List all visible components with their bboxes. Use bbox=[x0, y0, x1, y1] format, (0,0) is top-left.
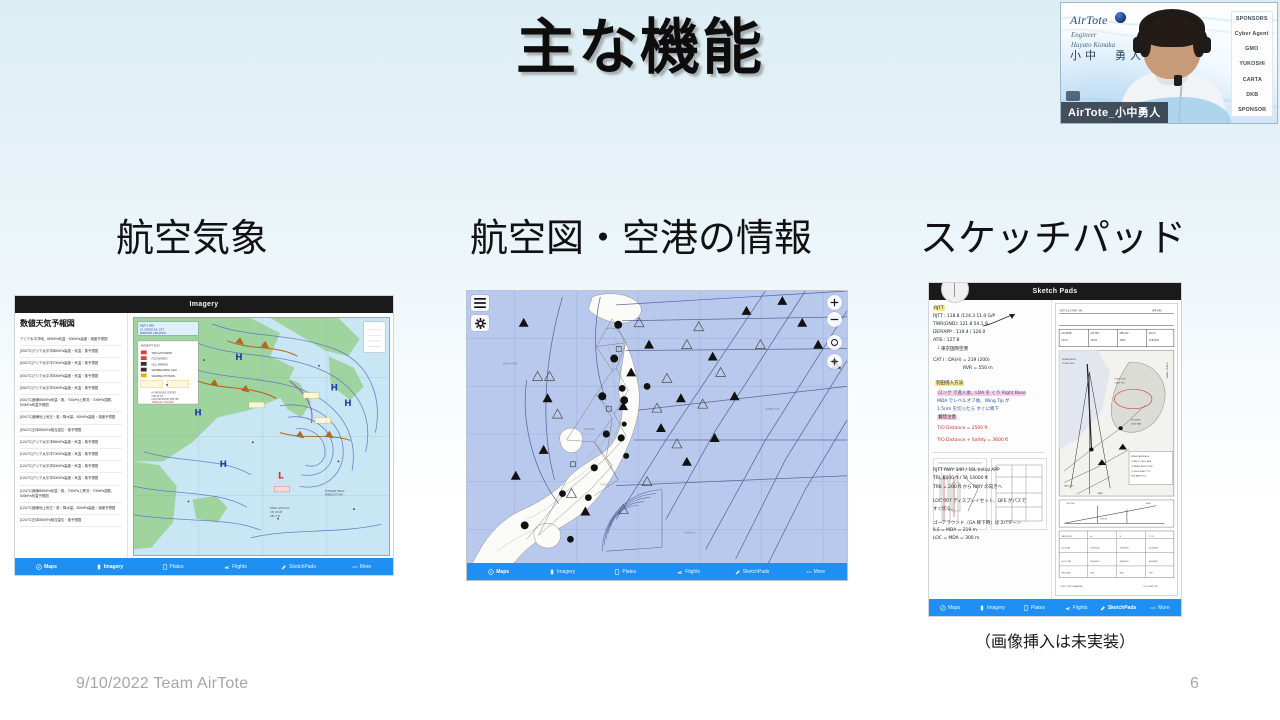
list-item[interactable]: [12UTC]日本850hPa相当温位・風予想図 bbox=[20, 515, 122, 527]
tab-sketchpads[interactable]: SketchPads bbox=[720, 569, 783, 575]
tab-label: Plates bbox=[170, 564, 184, 570]
imagery-icon bbox=[96, 564, 102, 570]
list-item[interactable]: [12UTC]極東850hPa気温・風、700hPa上昇流・700hPa湿数、5… bbox=[20, 486, 122, 503]
imagery-icon bbox=[549, 569, 555, 575]
svg-text:CLIMB 2000: CLIMB 2000 bbox=[1062, 363, 1075, 365]
svg-text:TROPICAL CYCLONE: TROPICAL CYCLONE bbox=[152, 401, 175, 404]
svg-text:2000: 2000 bbox=[1120, 339, 1126, 342]
sketch-icon bbox=[1100, 605, 1106, 611]
flight-icon bbox=[677, 569, 683, 575]
svg-text:29.92: 29.92 bbox=[1090, 339, 1097, 342]
compass-icon[interactable] bbox=[827, 335, 842, 350]
svg-text:FAF 2000: FAF 2000 bbox=[1064, 484, 1074, 487]
weather-app-body: 数値天気予報図 アジア太平洋域、850hPa気温・500hPa高度・渦度予想図 … bbox=[15, 313, 393, 558]
note-line: └ 東京国際空港 bbox=[937, 346, 968, 352]
note-line: T/O Distance = 2500 ft bbox=[937, 426, 988, 431]
note-line: ATIS : 127.8 bbox=[933, 338, 959, 343]
svg-text:TOKYO: TOKYO bbox=[600, 483, 609, 487]
tab-sketchpads[interactable]: SketchPads bbox=[267, 564, 330, 570]
svg-text:TOKYO VOR: TOKYO VOR bbox=[1114, 379, 1126, 381]
svg-text:FORECAST 24H: FORECAST 24H bbox=[325, 494, 343, 497]
tab-maps[interactable]: Maps bbox=[15, 564, 78, 570]
tab-label: SketchPads bbox=[743, 569, 770, 575]
gear-icon[interactable] bbox=[471, 315, 489, 331]
weather-app-tabbar[interactable]: Maps Imagery Plates Flights SketchPads bbox=[15, 558, 393, 575]
svg-text:ILS Z RWY 34L: ILS Z RWY 34L bbox=[1144, 586, 1159, 588]
sketch-icon bbox=[735, 569, 741, 575]
flight-icon bbox=[1065, 605, 1071, 611]
svg-text:UPPER ATS: UPPER ATS bbox=[765, 407, 779, 411]
tab-label: Plates bbox=[1031, 605, 1045, 611]
svg-text:CIRCLING: CIRCLING bbox=[1061, 573, 1071, 575]
weather-legend-box: FBJP 1 JMA 21 2000Z JUL 22T SURFACE ANAL… bbox=[138, 322, 198, 404]
list-item[interactable]: [00UTC]極東850hPa気温・風、700hPa上昇流・700hPa湿数、5… bbox=[20, 395, 122, 412]
tab-maps[interactable]: Maps bbox=[929, 605, 971, 611]
note-line: 羽田侵入方法 bbox=[935, 380, 964, 386]
tab-imagery[interactable]: Imagery bbox=[971, 605, 1013, 611]
note-line: LOC 007 ディスプレイセット、QFE がパスで bbox=[933, 498, 1026, 504]
sketchpad-note-page[interactable]: RJTT RJTT : 118.8 /124.3 11.0 G/P TWR(GN… bbox=[929, 300, 1052, 599]
svg-text:WARNING/NEAR GALE: WARNING/NEAR GALE bbox=[152, 369, 178, 372]
tab-label: Flights bbox=[1073, 605, 1088, 611]
tab-label: Flights bbox=[232, 564, 247, 570]
note-line: T/O Distance + Safety = 3600 ft bbox=[937, 438, 1008, 443]
list-item[interactable]: アジア太平洋域、850hPa気温・500hPa高度・渦度予想図 bbox=[20, 334, 122, 346]
list-item[interactable]: [12UTC]アジア太平洋850hPa高度・気温・風予想図 bbox=[20, 437, 122, 449]
svg-text:MISSED APCH: MISSED APCH bbox=[1062, 358, 1076, 361]
svg-text:219(200): 219(200) bbox=[1149, 547, 1158, 549]
sketchpad-caption: （画像挿入は未実装） bbox=[928, 628, 1182, 652]
more-icon bbox=[1150, 605, 1156, 611]
locate-me-icon[interactable] bbox=[827, 354, 842, 369]
tab-plates[interactable]: Plates bbox=[1013, 605, 1055, 611]
svg-text:GP 3.00°: GP 3.00° bbox=[1066, 503, 1075, 505]
svg-text:MIN ALT: MIN ALT bbox=[1120, 332, 1130, 335]
svg-text:AIRCRAFT SIGS: AIRCRAFT SIGS bbox=[141, 344, 160, 348]
tab-label: More bbox=[814, 569, 825, 575]
svg-text:WARNING/TYPHOON: WARNING/TYPHOON bbox=[152, 375, 176, 378]
tab-flights[interactable]: Flights bbox=[204, 564, 267, 570]
svg-text:ALT SET: ALT SET bbox=[1090, 332, 1100, 335]
svg-text:DA(H): DA(H) bbox=[1149, 332, 1156, 335]
note-line: ロング で進入後、LDA を くり Right Base bbox=[937, 390, 1026, 396]
note-line: すぐ切る。 bbox=[933, 506, 955, 512]
tab-maps[interactable]: Maps bbox=[467, 569, 530, 575]
compass-icon bbox=[940, 605, 946, 611]
compass-icon bbox=[36, 564, 42, 570]
tab-label: More bbox=[360, 564, 371, 570]
tab-imagery[interactable]: Imagery bbox=[78, 564, 141, 570]
sponsor-logo: YUKOSHI bbox=[1239, 61, 1265, 67]
headset-earcup-right-icon bbox=[1200, 37, 1211, 53]
list-item[interactable]: [12UTC]アジア太平洋700hPa高度・気温・風予想図 bbox=[20, 449, 122, 461]
svg-text:219(200): 219(200) bbox=[1090, 547, 1099, 549]
svg-text:OCEANIC: OCEANIC bbox=[684, 530, 696, 534]
list-item[interactable]: [00UTC]アジア太平洋850hPa高度・気温・風予想図 bbox=[20, 346, 122, 358]
tab-flights[interactable]: Flights bbox=[657, 569, 720, 575]
svg-text:219(200): 219(200) bbox=[1149, 339, 1160, 342]
note-line: DEP/APP : 119.4 / 126.0 bbox=[933, 330, 985, 335]
svg-text:CLIMB TO 2000 THEN: CLIMB TO 2000 THEN bbox=[1131, 461, 1152, 463]
webcam-corner-icon bbox=[1066, 91, 1080, 101]
plates-icon bbox=[162, 564, 168, 570]
note-line: TRK = 200 ft から RWY の向きへ bbox=[933, 484, 1002, 490]
tab-label: Maps bbox=[948, 605, 960, 611]
svg-text:CATEGORY: CATEGORY bbox=[1061, 535, 1072, 538]
weather-map-pane[interactable]: H H H H H L bbox=[128, 313, 393, 558]
svg-text:VOR AND HOLD.: VOR AND HOLD. bbox=[1131, 475, 1147, 478]
tab-label: Maps bbox=[496, 569, 509, 575]
svg-text:HOLDING: HOLDING bbox=[1131, 419, 1141, 421]
svg-text:LOC/DME: LOC/DME bbox=[1061, 332, 1072, 335]
list-item[interactable]: [12UTC]アジア太平洋500hPa高度・気温・風予想図 bbox=[20, 461, 122, 473]
svg-text:H: H bbox=[344, 399, 351, 409]
list-item[interactable]: [00UTC]アジア太平洋500hPa高度・気温・風予想図 bbox=[20, 371, 122, 383]
note-line: RJTT bbox=[933, 306, 945, 311]
more-icon bbox=[352, 564, 358, 570]
webcam-brand-logo: AirTote bbox=[1070, 13, 1108, 28]
svg-text:CLIMBING RIGHT TURN: CLIMBING RIGHT TURN bbox=[1131, 466, 1153, 468]
tab-label: More bbox=[1158, 605, 1169, 611]
svg-text:400(381): 400(381) bbox=[1149, 561, 1158, 563]
svg-text:S-ILS 34L: S-ILS 34L bbox=[1061, 547, 1071, 549]
weather-chart-svg: H H H H H L bbox=[134, 318, 389, 555]
zoom-out-icon[interactable] bbox=[827, 312, 842, 327]
sponsor-logo: CARTA bbox=[1242, 76, 1261, 82]
svg-text:116.6 TYO: 116.6 TYO bbox=[1114, 383, 1125, 385]
svg-text:CELL MARKED: CELL MARKED bbox=[152, 363, 169, 366]
weather-sidebar-title: 数値天気予報図 bbox=[20, 318, 122, 329]
svg-text:MISSED APPROACH:: MISSED APPROACH: bbox=[1131, 455, 1150, 458]
aeronautical-map-svg: SENDAI FIR OCEANIC UPPER ATS NIIGATA TOK… bbox=[467, 291, 847, 580]
headset-earcup-left-icon bbox=[1133, 37, 1144, 53]
weather-chart-image: H H H H H L bbox=[133, 317, 390, 556]
tab-more[interactable]: More bbox=[330, 564, 393, 570]
charts-app-tabbar[interactable]: Maps Imagery Plates Flights SketchPads bbox=[467, 563, 847, 580]
svg-text:110.5: 110.5 bbox=[1061, 339, 1068, 342]
svg-text:TCH 53: TCH 53 bbox=[1100, 518, 1108, 520]
tab-label: SketchPads bbox=[1108, 605, 1136, 611]
svg-text:2000: 2000 bbox=[1146, 503, 1152, 505]
svg-text:SEA 2 M: SEA 2 M bbox=[270, 515, 279, 518]
svg-text:SURFACE ANALYSIS: SURFACE ANALYSIS bbox=[140, 331, 166, 335]
tab-label: Imagery bbox=[987, 605, 1005, 611]
webcam-video-overlay[interactable]: AirTote Engineer Hayato Konaka 小中 勇人 SPO… bbox=[1060, 2, 1278, 124]
svg-text:VIS 10 KM: VIS 10 KM bbox=[270, 511, 282, 514]
tab-label: Maps bbox=[44, 564, 57, 570]
svg-text:ITCZ MARKED: ITCZ MARKED bbox=[152, 358, 168, 361]
list-item[interactable]: [00UTC]極東地上気圧・風・降水量、500hPa高度・渦度予想図 bbox=[20, 412, 122, 424]
svg-text:RJTT ILS Z RWY 34L: RJTT ILS Z RWY 34L bbox=[1060, 310, 1083, 313]
svg-text:H: H bbox=[220, 460, 227, 470]
sponsor-logo: SPONSOR bbox=[1238, 107, 1266, 113]
page-number: 6 bbox=[1190, 675, 1199, 693]
svg-text:TROUGH MARKED: TROUGH MARKED bbox=[152, 352, 173, 355]
approach-plate-svg: RJTT ILS Z RWY 34L APP CRS LOC/DME ALT S… bbox=[1056, 304, 1177, 595]
tab-more[interactable]: More bbox=[1139, 605, 1181, 611]
note-line: RJTT RWY 34R / 16L Initial APP bbox=[933, 468, 1000, 473]
sponsor-logo: GMO bbox=[1245, 46, 1258, 52]
screenshot-sketchpad-app[interactable]: Sketch Pads RJTT RJTT : 118.8 /124.3 11.… bbox=[928, 282, 1182, 617]
plates-icon bbox=[1023, 605, 1029, 611]
sponsor-logo: SPONSORS bbox=[1236, 16, 1268, 22]
svg-text:400(381): 400(381) bbox=[1090, 561, 1099, 563]
tab-plates[interactable]: Plates bbox=[141, 564, 204, 570]
flight-icon bbox=[224, 564, 230, 570]
imagery-icon bbox=[979, 605, 985, 611]
svg-text:TO 4000 DIRECT TYO: TO 4000 DIRECT TYO bbox=[1131, 471, 1151, 473]
tab-label: Plates bbox=[622, 569, 636, 575]
zoom-in-icon[interactable] bbox=[827, 295, 842, 310]
list-item[interactable]: [00UTC]アジア太平洋300hPa高度・気温・風予想図 bbox=[20, 383, 122, 395]
svg-text:SENDAI FIR: SENDAI FIR bbox=[503, 361, 518, 365]
screenshot-weather-app[interactable]: Imagery 数値天気予報図 アジア太平洋域、850hPa気温・500hPa高… bbox=[14, 295, 394, 576]
column-heading-sketchpad: スケッチパッド bbox=[920, 216, 1186, 262]
tab-label: SketchPads bbox=[289, 564, 316, 570]
more-icon bbox=[806, 569, 812, 575]
tab-flights[interactable]: Flights bbox=[1055, 605, 1097, 611]
note-line: ゴーアラウンド（GA 降下時）は 2パターン bbox=[933, 520, 1021, 526]
svg-text:TOKYO INTL (HANEDA): TOKYO INTL (HANEDA) bbox=[1060, 585, 1082, 588]
note-line: TRL 6000 ft / TA 14000 ft bbox=[933, 476, 988, 481]
weather-sidebar-list[interactable]: 数値天気予報図 アジア太平洋域、850hPa気温・500hPa高度・渦度予想図 … bbox=[15, 313, 128, 558]
svg-text:400(381): 400(381) bbox=[1120, 561, 1129, 563]
note-line: CAT I : DA(H) = 219 (200) bbox=[933, 358, 990, 363]
compass-icon bbox=[488, 569, 494, 575]
note-line: ILS = MDA = 219 m bbox=[933, 528, 977, 533]
list-item[interactable]: [12UTC]アジア太平洋300hPa高度・気温・風予想図 bbox=[20, 473, 122, 485]
list-item[interactable]: [00UTC]アジア太平洋700hPa高度・気温・風予想図 bbox=[20, 358, 122, 370]
tab-plates[interactable]: Plates bbox=[594, 569, 657, 575]
screenshot-charts-app[interactable]: SENDAI FIR OCEANIC UPPER ATS NIIGATA TOK… bbox=[466, 290, 848, 581]
svg-text:H: H bbox=[194, 409, 201, 419]
webcam-nameplate: AirTote_小中勇人 bbox=[1061, 102, 1168, 123]
footer-date: 9/10/2022 Team AirTote bbox=[76, 675, 248, 693]
svg-text:TYPHOON TRACK: TYPHOON TRACK bbox=[325, 490, 345, 493]
svg-text:WIND 120/15 KT: WIND 120/15 KT bbox=[270, 507, 289, 510]
tab-label: Imagery bbox=[104, 564, 123, 570]
sketchpad-body: RJTT RJTT : 118.8 /124.3 11.0 G/P TWR(GN… bbox=[929, 300, 1181, 599]
sponsor-logo: DKB bbox=[1246, 91, 1258, 97]
svg-text:H: H bbox=[331, 384, 338, 394]
hamburger-menu-icon[interactable] bbox=[471, 295, 489, 311]
note-line: 1.5nm を切ったら すぐに降下 bbox=[937, 406, 999, 412]
column-heading-weather: 航空気象 bbox=[116, 216, 268, 262]
approach-plate-image: RJTT ILS Z RWY 34L APP CRS LOC/DME ALT S… bbox=[1055, 303, 1178, 596]
plates-icon bbox=[614, 569, 620, 575]
note-line: 着陸注意 bbox=[937, 414, 957, 420]
svg-text:H: H bbox=[235, 353, 242, 363]
sketchpad-plate-pane[interactable]: RJTT ILS Z RWY 34L APP CRS LOC/DME ALT S… bbox=[1052, 300, 1181, 599]
aeronautical-map-image[interactable]: SENDAI FIR OCEANIC UPPER ATS NIIGATA TOK… bbox=[467, 291, 847, 580]
note-line: LOC = MDA = 300 m bbox=[933, 536, 979, 541]
list-item[interactable]: [00UTC]日本850hPa相当温位・風予想図 bbox=[20, 425, 122, 437]
svg-text:MAPt: MAPt bbox=[1098, 492, 1103, 495]
tab-label: Flights bbox=[685, 569, 700, 575]
sponsor-panel: SPONSORS Cyber Agent GMO YUKOSHI CARTA D… bbox=[1231, 11, 1273, 117]
list-item[interactable]: [12UTC]極東地上気圧・風・降水量、500hPa高度・渦度予想図 bbox=[20, 503, 122, 515]
note-line: RVR = 550 m bbox=[963, 366, 993, 371]
column-heading-charts: 航空図・空港の情報 bbox=[470, 216, 812, 262]
note-line: MDA でレベルオフ後、Wing Tip が bbox=[937, 398, 1010, 404]
tab-imagery[interactable]: Imagery bbox=[530, 569, 593, 575]
svg-text:C / D: C / D bbox=[1149, 536, 1154, 538]
svg-text:APP CRS: APP CRS bbox=[1152, 310, 1162, 313]
sketchpad-app-tabbar[interactable]: Maps Imagery Plates Flights SketchPads bbox=[929, 599, 1181, 616]
webcam-role-line1: Engineer bbox=[1071, 30, 1097, 40]
note-arrow-annotation bbox=[981, 310, 1021, 330]
sketch-icon bbox=[281, 564, 287, 570]
tab-sketchpads[interactable]: SketchPads bbox=[1097, 605, 1139, 611]
note-divider bbox=[933, 452, 1045, 453]
svg-text:219(200): 219(200) bbox=[1120, 547, 1129, 549]
svg-text:S-LOC 34L: S-LOC 34L bbox=[1061, 561, 1072, 563]
svg-text:5000 MAX: 5000 MAX bbox=[1131, 422, 1142, 425]
svg-text:L: L bbox=[278, 472, 284, 482]
tab-label: Imagery bbox=[557, 569, 575, 575]
sponsor-logo: Cyber Agent bbox=[1235, 31, 1269, 37]
svg-text:NIIGATA: NIIGATA bbox=[584, 427, 594, 431]
weather-app-titlebar: Imagery bbox=[15, 296, 393, 313]
note-line: TWR(GND): 121.8 54.1 9 bbox=[933, 322, 988, 327]
tab-more[interactable]: More bbox=[784, 569, 847, 575]
